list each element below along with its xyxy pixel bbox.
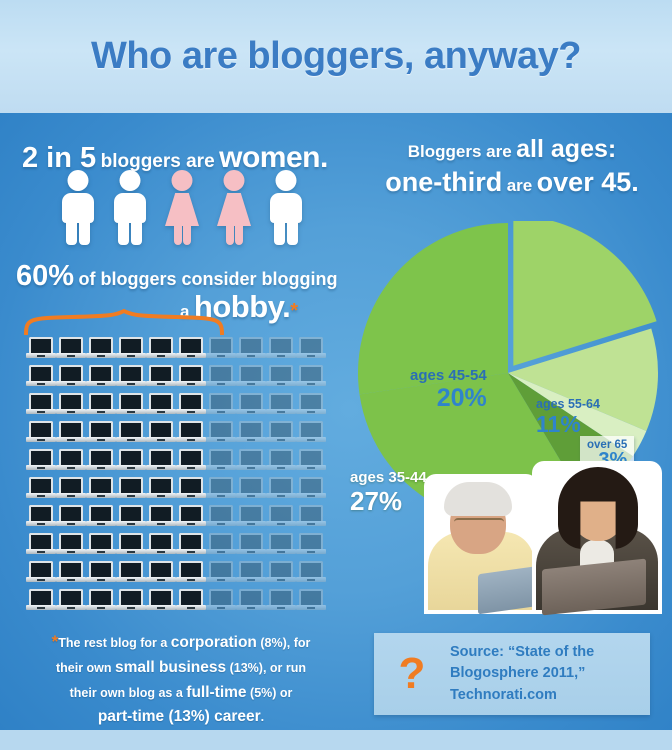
laptop-icon: [116, 363, 146, 391]
laptop-icon: [236, 363, 266, 391]
laptop-icon: [86, 475, 116, 503]
laptop-icon: [26, 475, 56, 503]
laptop-icon: [296, 475, 326, 503]
footnote-line4-b: .: [261, 710, 264, 724]
laptop-icon: [296, 363, 326, 391]
laptop-icon: [176, 419, 206, 447]
laptop-icon: [26, 335, 56, 363]
laptop-icon: [86, 503, 116, 531]
main-body: 2 in 5 bloggers are women.: [0, 113, 672, 730]
laptop-icon: [206, 335, 236, 363]
laptop-icon: [86, 559, 116, 587]
laptop-icon: [146, 559, 176, 587]
laptop-icon: [266, 503, 296, 531]
laptop-icon: [266, 559, 296, 587]
male-figure-icon: [266, 170, 306, 245]
laptop-icon: [206, 419, 236, 447]
footnote-full-time: full-time: [186, 684, 246, 701]
footnote-small-business: small business: [115, 659, 226, 676]
laptop-icon: [266, 363, 296, 391]
header-band: Who are bloggers, anyway?: [0, 0, 672, 113]
right-column: Bloggers are all ages: one-third are ove…: [352, 113, 672, 730]
laptop-icon: [146, 447, 176, 475]
laptop-icon: [56, 559, 86, 587]
laptop-icon: [116, 559, 146, 587]
laptop-icon: [146, 419, 176, 447]
male-figure-icon: [110, 170, 150, 245]
laptop-icon: [146, 363, 176, 391]
laptop-icon: [176, 587, 206, 615]
laptop-icon: [56, 391, 86, 419]
laptop-icon: [176, 363, 206, 391]
laptop-icon: [236, 419, 266, 447]
laptop-icon: [206, 475, 236, 503]
laptop-icon: [266, 587, 296, 615]
laptop-icon: [146, 587, 176, 615]
laptop-icon: [26, 587, 56, 615]
laptop-grid: [26, 335, 326, 615]
laptop-icon: [236, 559, 266, 587]
footer-band: [0, 730, 672, 750]
people-pictogram-row: [58, 170, 306, 245]
laptop-icon: [266, 447, 296, 475]
ages-headline-line1: Bloggers are all ages:: [352, 135, 672, 164]
ages-headline-line2: one-third are over 45.: [352, 167, 672, 198]
ages-headline-big1: all ages:: [516, 135, 616, 163]
laptop-icon: [116, 531, 146, 559]
footnote-line1-c: (8%), for: [257, 636, 310, 650]
infographic-poster: Who are bloggers, anyway? 2 in 5 blogger…: [0, 0, 672, 750]
footnote-line3-c: (5%) or: [247, 686, 293, 700]
laptop-icon: [26, 531, 56, 559]
left-column: 2 in 5 bloggers are women.: [0, 113, 352, 730]
laptop-icon: [116, 391, 146, 419]
female-figure-icon: [162, 170, 202, 245]
laptop-icon: [146, 475, 176, 503]
laptop-icon: [86, 363, 116, 391]
laptop-icon: [176, 335, 206, 363]
source-line1: Source: “State of the: [450, 642, 640, 663]
female-figure-icon: [214, 170, 254, 245]
footnote-line2-c: (13%), or run: [226, 661, 306, 675]
hobby-stat-percent: 60%: [16, 260, 74, 292]
source-box: ? Source: “State of the Blogosphere 2011…: [374, 633, 650, 715]
pie-slice-ages-35-44: [358, 223, 508, 394]
laptop-icon: [26, 363, 56, 391]
hobby-stat-text: of bloggers consider blogging: [79, 269, 338, 289]
laptop-icon: [206, 531, 236, 559]
laptop-icon: [266, 419, 296, 447]
laptop-icon: [56, 531, 86, 559]
older-man-photo: [428, 478, 534, 610]
laptop-icon: [236, 531, 266, 559]
laptop-icon: [236, 335, 266, 363]
laptop-icon: [176, 531, 206, 559]
footnote-line2-a: their own: [56, 661, 115, 675]
laptop-icon: [176, 559, 206, 587]
laptop-icon: [296, 447, 326, 475]
laptop-icon: [266, 391, 296, 419]
source-text: Source: “State of the Blogosphere 2011,”…: [450, 642, 650, 705]
footnote-part-time: part-time (13%) career: [98, 708, 261, 725]
laptop-icon: [56, 587, 86, 615]
source-line3: Technorati.com: [450, 685, 640, 706]
laptop-icon: [296, 559, 326, 587]
laptop-icon: [26, 503, 56, 531]
people-photo-cutout: [428, 465, 658, 610]
laptop-icon: [236, 503, 266, 531]
laptop-icon: [296, 503, 326, 531]
laptop-icon: [86, 419, 116, 447]
laptop-icon: [146, 335, 176, 363]
laptop-icon: [86, 587, 116, 615]
laptop-icon: [146, 503, 176, 531]
laptop-icon: [206, 587, 236, 615]
laptop-icon: [146, 391, 176, 419]
male-figure-icon: [58, 170, 98, 245]
source-line2: Blogosphere 2011,”: [450, 663, 640, 684]
laptop-icon: [56, 419, 86, 447]
women-stat-mid: bloggers are: [101, 151, 215, 172]
woman-photo: [536, 465, 658, 610]
laptop-icon: [86, 391, 116, 419]
laptop-icon: [236, 475, 266, 503]
laptop-icon: [86, 447, 116, 475]
laptop-icon: [296, 531, 326, 559]
laptop-icon: [116, 587, 146, 615]
laptop-icon: [146, 531, 176, 559]
laptop-icon: [296, 335, 326, 363]
laptop-icon: [206, 503, 236, 531]
footnote-line3-a: their own blog as a: [70, 686, 187, 700]
footnote-corporation: corporation: [171, 634, 257, 651]
laptop-icon: [206, 559, 236, 587]
question-mark-icon: ?: [374, 652, 450, 696]
ages-headline-over45: over 45.: [537, 167, 639, 197]
laptop-icon: [266, 335, 296, 363]
laptop-icon: [296, 391, 326, 419]
laptop-icon: [176, 503, 206, 531]
laptop-icon: [56, 363, 86, 391]
laptop-icon: [116, 419, 146, 447]
orange-brace-icon: [24, 309, 224, 335]
laptop-icon: [176, 391, 206, 419]
laptop-icon: [236, 587, 266, 615]
ages-headline-are: are: [507, 176, 533, 195]
laptop-icon: [26, 419, 56, 447]
laptop-icon: [206, 447, 236, 475]
asterisk-icon: *: [290, 300, 298, 322]
laptop-icon: [206, 363, 236, 391]
laptop-icon: [116, 335, 146, 363]
laptop-icon: [56, 475, 86, 503]
laptop-icon: [296, 587, 326, 615]
footnote-text: *The rest blog for a corporation (8%), f…: [18, 629, 344, 730]
ages-headline-onethird: one-third: [385, 167, 502, 197]
laptop-icon: [56, 447, 86, 475]
laptop-icon: [236, 447, 266, 475]
footnote-line1-a: The rest blog for a: [58, 636, 171, 650]
laptop-icon: [56, 503, 86, 531]
laptop-icon: [176, 447, 206, 475]
laptop-icon: [236, 391, 266, 419]
laptop-icon: [116, 503, 146, 531]
ages-headline-small1: Bloggers are: [408, 142, 512, 161]
laptop-icon: [116, 447, 146, 475]
laptop-icon: [266, 531, 296, 559]
laptop-icon: [56, 335, 86, 363]
laptop-icon: [26, 447, 56, 475]
laptop-icon: [26, 391, 56, 419]
laptop-icon: [206, 391, 236, 419]
laptop-icon: [176, 475, 206, 503]
laptop-icon: [86, 531, 116, 559]
laptop-icon: [266, 475, 296, 503]
page-title: Who are bloggers, anyway?: [91, 35, 581, 78]
laptop-icon: [86, 335, 116, 363]
laptop-icon: [116, 475, 146, 503]
laptop-icon: [26, 559, 56, 587]
laptop-icon: [296, 419, 326, 447]
